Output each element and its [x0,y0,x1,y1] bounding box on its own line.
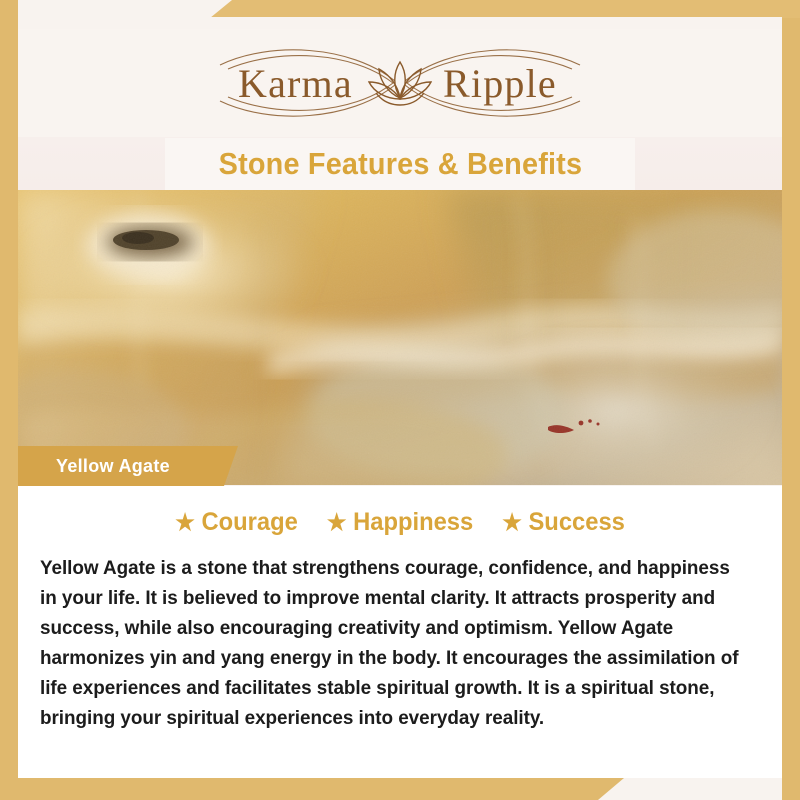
frame-top-gold-bar [210,0,800,18]
yellow-agate-texture-svg [18,190,782,485]
logo-word-right: Ripple [443,61,557,106]
star-icon: ★ [502,511,522,534]
title-panel: Stone Features & Benefits [165,138,635,190]
brand-logo: Karma Ripple [18,29,782,137]
stone-name-banner: Yellow Agate [18,446,238,486]
logo-word-left: Karma [238,61,353,106]
keyword-list: ★ Courage ★ Happiness ★ Success [40,486,760,552]
stone-description: Yellow Agate is a stone that strengthens… [40,554,749,734]
lotus-icon [369,62,431,105]
karma-ripple-logo-svg: Karma Ripple [190,35,610,131]
stone-name-label: Yellow Agate [56,456,170,477]
content-card: Karma Ripple Stone Features & Benefits [18,17,782,778]
benefits-section: ★ Courage ★ Happiness ★ Success Yellow A… [18,486,782,778]
star-icon: ★ [327,511,347,534]
keyword-courage: ★ Courage [175,508,298,537]
star-icon: ★ [175,511,195,534]
keyword-courage-label: Courage [201,508,297,537]
infographic-page: Karma Ripple Stone Features & Benefits [0,0,800,800]
keyword-happiness-label: Happiness [353,508,473,537]
frame-left-gold-bar [0,0,18,800]
keyword-success-label: Success [528,508,624,537]
keyword-happiness: ★ Happiness [327,508,473,537]
page-title: Stone Features & Benefits [218,146,582,182]
stone-photo [18,190,782,485]
keyword-success: ★ Success [502,508,625,537]
frame-right-gold-bar [782,0,800,800]
frame-bottom-gold-bar [0,778,624,800]
